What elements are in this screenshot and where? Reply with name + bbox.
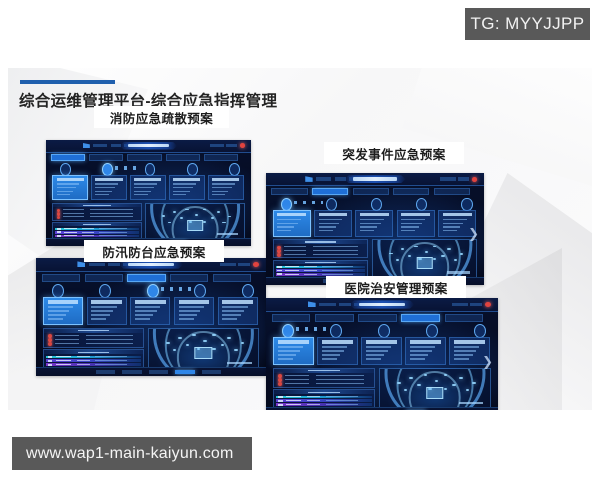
map-node-12 [203,221,206,223]
plan-card-3[interactable] [169,175,205,200]
map-node-8 [425,251,428,253]
plan-card-line-3 [91,318,106,319]
flow-line-b-0 [86,335,134,336]
step-circle-3[interactable] [194,284,206,298]
resource-row-meta [326,396,358,397]
plan-card-header [222,300,253,303]
panel-resource-header [274,390,374,394]
dashboard-title-text [353,177,397,180]
resource-row-text [56,364,71,365]
nav-tab-4[interactable] [213,274,251,282]
map-node-6 [404,389,408,391]
alert-indicator-icon [472,177,478,182]
panel-plan-flow [273,368,375,388]
plan-card-line-1 [135,310,157,311]
tg-watermark-label: TG: MYYJJPP [471,14,585,34]
map-node-4 [227,337,231,339]
nav-tab-1[interactable] [312,188,348,195]
plan-card-line-1 [410,350,432,351]
nav-tab-4[interactable] [434,188,470,195]
plan-card-header [179,300,210,303]
resource-row-text [285,274,299,275]
plan-card-0[interactable] [273,210,311,237]
plan-card-line-3 [173,194,186,195]
dashboard-nav-tabs [51,154,246,161]
plan-card-line-1 [454,350,476,351]
plan-card-line-0 [443,219,467,220]
resource-row-icon [48,360,53,362]
plan-card-line-0 [360,219,384,220]
resource-row-text [64,232,77,233]
plan-card-line-1 [179,310,201,311]
screenshot-hospital-security[interactable]: ❯ [266,298,498,410]
plan-card-line-3 [360,230,374,231]
topbar-right-chip-0 [452,303,468,307]
plan-card-3[interactable] [174,297,214,325]
plan-card-header [360,213,389,216]
map-node-5 [241,342,245,344]
caption-text: 消防应急疏散预案 [110,108,213,127]
plan-card-0[interactable] [43,297,83,325]
resource-row-text [64,228,77,229]
plan-card-line-3 [366,358,381,359]
topbar-right-chip-0 [440,177,455,180]
topbar-chip-0 [93,144,107,147]
plan-card-header [454,340,485,343]
resource-row-text [64,235,77,236]
dashboard-plan-cards [43,297,259,325]
dashboard-plan-cards [273,210,478,237]
flow-line-a-2 [55,343,79,344]
panel-resource-list [43,349,144,368]
plan-card-line-0 [277,219,301,220]
resource-row-value [307,400,320,401]
plan-card-line-3 [319,230,333,231]
panel-facility-map [148,328,260,369]
resource-row-icon [57,231,61,233]
warning-dot-2 [57,216,61,220]
nav-tab-0[interactable] [272,314,311,322]
topbar-chip-1 [335,177,346,180]
resource-row-meta [322,270,352,271]
plan-card-1[interactable] [87,297,127,325]
step-circle-0[interactable] [52,284,64,298]
panel-plan-flow [273,239,369,258]
nav-tab-1[interactable] [315,314,354,322]
flow-line-b-0 [313,246,358,247]
resource-row-icon [277,270,281,272]
hospital-logo-icon [305,176,312,182]
nav-tab-0[interactable] [42,274,80,282]
plan-card-line-0 [319,219,343,220]
plan-card-line-0 [57,183,79,184]
resource-row-0[interactable] [276,266,365,269]
plan-card-header [212,178,239,181]
plan-card-line-0 [401,219,425,220]
plan-card-2[interactable] [130,175,166,200]
resource-row-meta [99,228,127,229]
panel-flow-header [53,204,141,208]
map-node-8 [195,214,198,216]
panel-flow-title [308,370,340,372]
resource-row-text [286,396,301,397]
topbar-right-chip-1 [470,303,482,307]
flow-line-b-1 [90,213,132,214]
topbar-chip-1 [111,144,121,147]
flow-line-a-1 [285,379,309,380]
dashboard-bottom-bar [266,407,498,410]
step-arrow-connector [115,166,142,170]
flow-line-a-0 [285,375,309,376]
warning-dot-2 [277,253,281,257]
nav-tab-0[interactable] [51,154,85,161]
plan-card-4[interactable] [208,175,244,200]
plan-card-line-2 [173,191,189,192]
resource-row-2[interactable] [46,363,140,366]
map-node-1 [409,377,413,379]
plan-card-1[interactable] [317,337,358,365]
dashboard-title-plate [350,300,415,308]
resource-row-value [82,232,94,233]
plan-card-line-1 [443,223,464,224]
map-node-0 [166,342,170,344]
resource-row-text [56,356,71,357]
nav-tab-4[interactable] [445,314,484,322]
carousel-next-arrow-icon[interactable]: ❯ [468,227,479,240]
plan-card-line-2 [454,354,473,355]
plan-card-line-0 [173,183,195,184]
plan-card-line-2 [91,314,109,315]
bottom-tab-1[interactable] [122,370,142,374]
plan-card-header [366,340,397,343]
alert-indicator-icon [240,143,245,148]
step-circle-1[interactable] [99,284,111,298]
nav-tab-2[interactable] [358,314,397,322]
url-watermark-badge: www.wap1-main-kaiyun.com [12,437,252,470]
plan-card-3[interactable] [397,210,435,237]
dashboard-surface [266,173,484,285]
dashboard-step-flow [43,284,259,295]
panel-facility-map [372,239,478,278]
bottom-tab-0[interactable] [96,370,116,374]
step-circle-4[interactable] [242,284,254,298]
map-node-10 [454,259,457,261]
resource-row-meta [95,364,127,365]
resource-row-icon [48,364,53,366]
plan-card-line-0 [95,183,117,184]
hospital-logo-icon [83,143,90,148]
resource-row-meta [95,356,127,357]
resource-row-icon [277,266,281,268]
flow-line-a-2 [285,383,309,384]
flow-line-a-1 [63,213,84,214]
resource-row-0[interactable] [276,396,371,399]
flow-line-a-0 [284,246,307,247]
resource-row-text [286,400,301,401]
plan-card-line-1 [366,350,388,351]
map-node-5 [472,382,476,384]
plan-card-line-3 [212,194,225,195]
nav-tab-4[interactable] [204,154,238,161]
resource-row-value [77,356,90,357]
plan-card-line-1 [173,187,192,188]
plan-card-header [134,178,161,181]
plan-card-line-1 [212,187,231,188]
hospital-logo-icon [308,301,316,307]
panel-flow-title [83,205,111,206]
resource-row-meta [326,400,358,401]
flow-line-a-2 [63,216,84,217]
map-label [227,362,251,365]
map-center-hub [195,347,212,359]
resource-row-2[interactable] [276,403,371,406]
map-node-6 [396,259,399,261]
map-node-1 [173,211,176,213]
page-title: 综合运维管理平台-综合应急指挥管理 [19,89,449,111]
plan-card-header [48,300,79,303]
screenshot-emergency-incident[interactable]: ❯ [266,173,484,285]
resource-row-icon [57,228,61,230]
plan-card-line-2 [360,226,377,227]
nav-tab-2[interactable] [127,154,161,161]
resource-row-text [56,360,71,361]
plan-card-line-2 [135,314,153,315]
panel-resource-header [53,223,141,226]
map-node-7 [408,255,411,257]
map-node-0 [162,215,165,217]
map-node-4 [459,377,463,379]
flow-line-b-1 [86,339,134,340]
topbar-right-chip-0 [210,144,224,147]
dashboard-step-flow [273,198,478,208]
plan-card-1[interactable] [314,210,352,237]
plan-card-header [443,213,472,216]
plan-card-line-1 [277,223,298,224]
panel-facility-map [379,368,492,409]
topbar-chip-1 [108,263,120,267]
plan-card-line-0 [366,346,391,347]
map-node-8 [203,340,207,342]
dashboard-title-text [128,263,174,266]
resource-row-1[interactable] [55,231,139,234]
flow-line-b-2 [313,254,358,255]
resource-row-1[interactable] [276,269,365,272]
plan-card-line-3 [222,318,237,319]
dashboard-plan-cards [52,175,245,200]
screenshot-fire-evacuation[interactable] [46,140,251,246]
plan-card-line-0 [322,346,347,347]
dashboard-topbar [46,140,251,153]
carousel-next-arrow-icon[interactable]: ❯ [482,355,493,368]
plan-card-line-3 [443,230,457,231]
nav-tab-1[interactable] [89,154,123,161]
plan-card-line-2 [57,191,73,192]
map-node-4 [447,248,450,250]
panel-resource-list [273,389,375,408]
topbar-right-chip-1 [226,144,236,147]
plan-card-3[interactable] [405,337,446,365]
plan-card-line-0 [134,183,156,184]
map-node-9 [441,255,444,257]
nav-tab-3[interactable] [170,274,208,282]
plan-card-line-2 [222,314,240,315]
dashboard-plan-cards [273,337,491,365]
nav-tab-0[interactable] [271,188,307,195]
plan-card-line-2 [401,226,418,227]
plan-card-line-2 [48,314,66,315]
panel-plan-flow [43,328,144,348]
step-arrow-connector [294,201,323,205]
plan-card-line-0 [222,306,247,307]
dashboard-nav-tabs [272,314,492,322]
dashboard-title-plate [120,142,177,149]
panel-flow-header [44,329,143,333]
plan-card-header [135,300,166,303]
panel-flow-header [274,369,374,373]
dashboard-title-plate [344,175,405,183]
plan-card-line-3 [179,318,194,319]
plan-card-line-0 [91,306,116,307]
resource-row-value [82,235,94,236]
plan-card-header [401,213,430,216]
resource-row-1[interactable] [276,399,371,402]
nav-tab-3[interactable] [166,154,200,161]
flow-line-b-1 [313,250,358,251]
plan-card-line-3 [322,358,337,359]
plan-card-header [91,300,122,303]
map-center-hub [416,257,433,268]
plan-card-header [319,213,348,216]
resource-row-meta [99,232,127,233]
plan-card-line-2 [277,226,294,227]
topbar-chip-1 [339,303,351,307]
dashboard-surface [36,258,266,376]
flow-line-b-0 [316,375,364,376]
plan-card-line-1 [134,187,153,188]
plan-card-line-1 [278,350,300,351]
resource-row-value [82,228,94,229]
plan-card-2[interactable] [355,210,393,237]
step-circle-2[interactable] [147,284,159,298]
panel-resource-title [83,224,111,225]
plan-card-header [322,340,353,343]
dashboard-nav-tabs [42,274,261,282]
flow-line-a-1 [284,250,307,251]
nav-tab-3[interactable] [393,188,429,195]
hospital-logo-icon [77,261,85,267]
nav-tab-3[interactable] [401,314,440,322]
flow-line-b-0 [90,209,132,210]
map-node-6 [168,222,171,224]
map-label [217,233,238,235]
plan-card-line-1 [360,223,381,224]
plan-card-line-0 [454,346,479,347]
topbar-right-chip-0 [220,263,236,267]
plan-card-0[interactable] [273,337,314,365]
plan-card-line-2 [319,226,336,227]
map-center-hub [187,220,203,231]
map-node-10 [222,222,225,224]
plan-card-line-2 [179,314,197,315]
resource-row-2[interactable] [55,235,139,238]
plan-card-line-0 [212,183,234,184]
plan-card-line-2 [366,354,385,355]
plan-card-line-3 [134,194,147,195]
plan-card-line-3 [95,194,108,195]
plan-card-line-1 [222,310,244,311]
bottom-tab-3[interactable] [175,370,195,374]
caption-text: 突发事件应急预案 [342,144,445,163]
plan-card-header [173,178,200,181]
resource-row-meta [99,235,127,236]
panel-resource-header [44,350,143,354]
topbar-chip-0 [319,303,335,307]
plan-card-1[interactable] [91,175,127,200]
plan-card-line-1 [319,223,340,224]
map-node-10 [466,389,470,391]
resource-row-meta [322,274,352,275]
plan-card-line-2 [95,191,111,192]
bottom-tab-4[interactable] [202,370,222,374]
panel-resource-title [308,392,340,393]
plan-card-header [95,178,122,181]
resource-row-icon [277,273,281,275]
resource-row-1[interactable] [46,359,140,362]
plan-card-0[interactable] [52,175,88,200]
resource-row-0[interactable] [55,228,139,231]
flow-line-a-1 [55,339,79,340]
nav-tab-1[interactable] [85,274,123,282]
plan-card-line-3 [278,358,293,359]
plan-card-4[interactable] [218,297,258,325]
nav-tab-2[interactable] [127,274,165,282]
caption-fire-evacuation: 消防应急疏散预案 [94,106,229,128]
step-arrow-connector [161,287,191,291]
resource-row-text [285,270,299,271]
panel-resource-title [78,352,110,353]
caption-hospital-security: 医院治安管理预案 [326,276,466,298]
caption-flood-typhoon: 防汛防台应急预案 [84,240,224,262]
tg-watermark-badge: TG: MYYJJPP [465,8,590,40]
plan-card-line-2 [134,191,150,192]
plan-card-2[interactable] [361,337,402,365]
map-node-9 [452,384,456,386]
map-node-0 [397,382,401,384]
nav-tab-2[interactable] [353,188,389,195]
plan-card-line-1 [322,350,344,351]
resource-row-value [304,274,316,275]
warning-dot-2 [278,382,282,386]
plan-card-2[interactable] [130,297,170,325]
plan-card-line-0 [179,306,204,307]
resource-row-icon [278,404,283,406]
bottom-tab-2[interactable] [149,370,169,374]
panel-facility-map [145,203,244,240]
dashboard-surface [266,298,498,410]
plan-card-line-2 [322,354,341,355]
resource-row-0[interactable] [46,356,140,359]
map-label [459,402,483,405]
dashboard-bottom-bar [36,367,266,376]
topbar-right-chip-1 [458,177,469,180]
plan-card-line-3 [57,194,70,195]
warning-dot-2 [48,342,52,346]
screenshot-flood-typhoon[interactable] [36,258,266,376]
plan-card-header [277,213,306,216]
plan-card-line-1 [48,310,70,311]
panel-flow-header [274,240,368,244]
topbar-chip-0 [316,177,331,180]
